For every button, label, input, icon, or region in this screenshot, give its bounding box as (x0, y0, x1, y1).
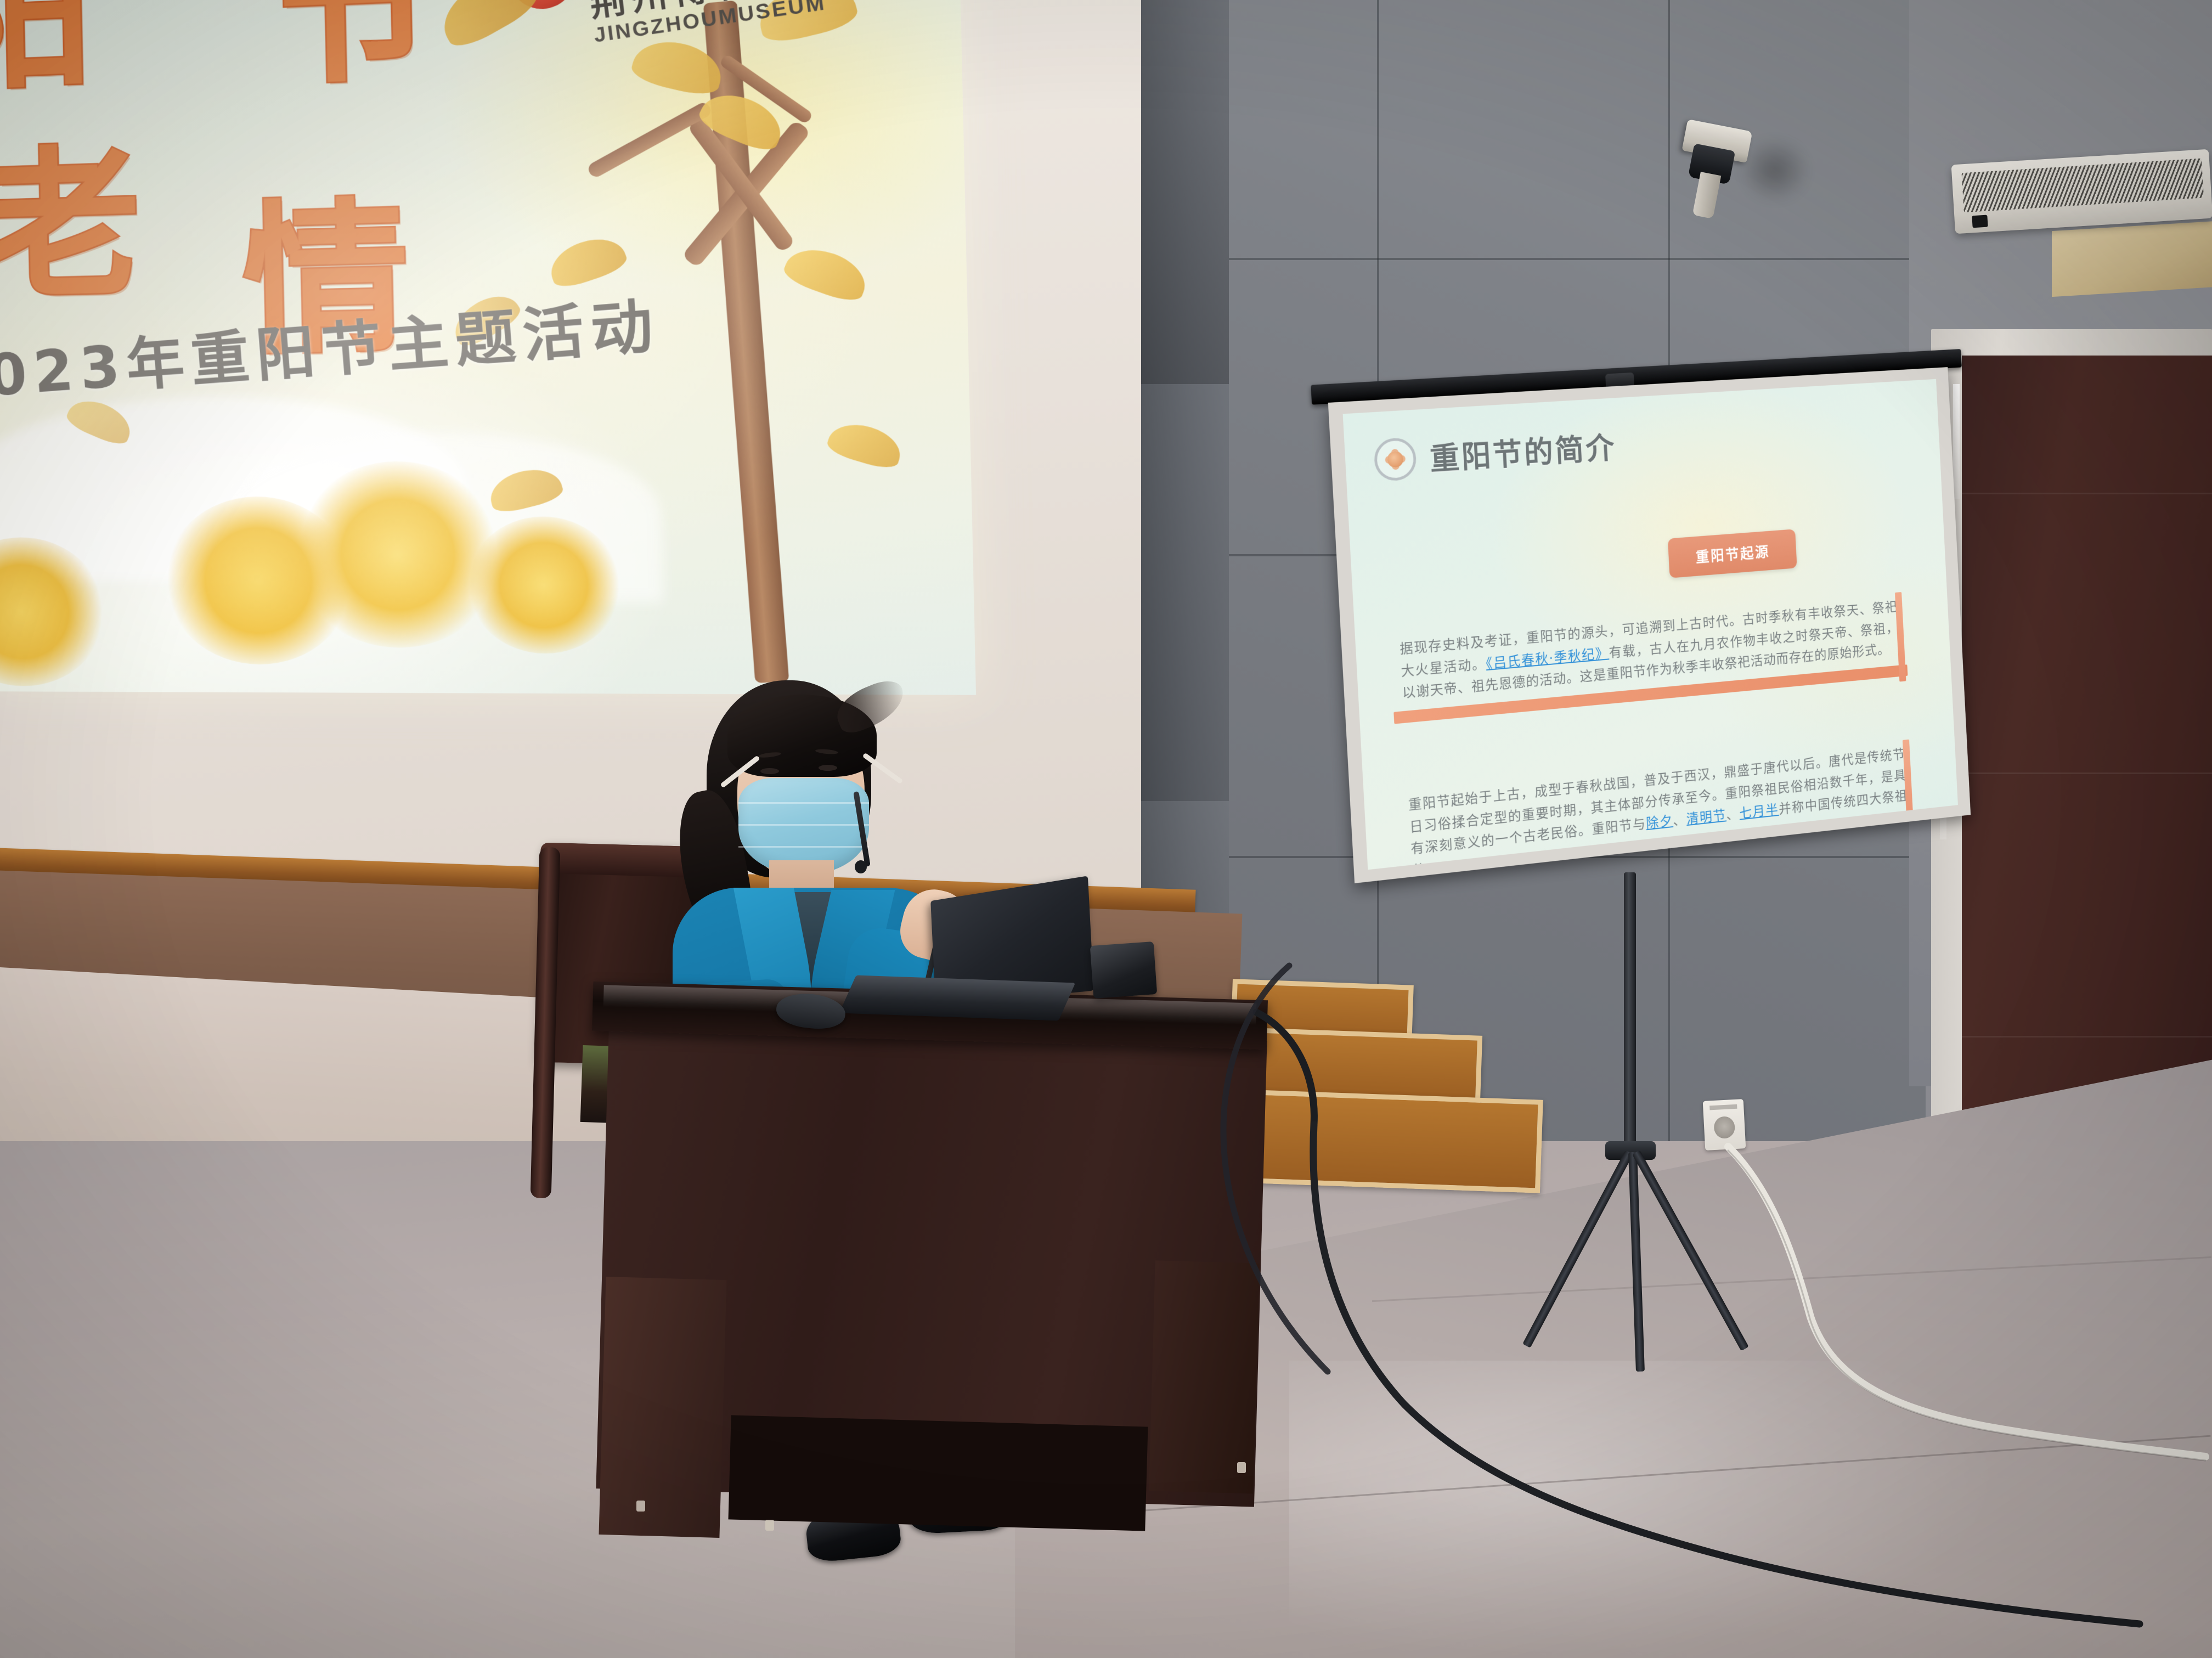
lecture-room-photo: 阳 节 老 情 荆州博物馆 JINGZHOUMUSEUM 2023年重阳节主题活… (0, 0, 2212, 1658)
desk-leg-left (599, 1277, 726, 1538)
screen-surface-border: 重阳节的简介 重阳节起源 据现存史料及考证，重阳节的源头，可追溯到上古时代。古时… (1328, 367, 1971, 883)
desk-kick-panel (728, 1415, 1148, 1531)
wood-ledge (2052, 221, 2212, 297)
slide-title: 重阳节的简介 (1429, 424, 1617, 479)
eye (760, 768, 779, 774)
floor-sheen (1289, 1361, 2002, 1657)
cctv-shadow (1739, 137, 1810, 203)
ac-grille (1962, 159, 2204, 213)
projection-screen-assembly: 重阳节的简介 重阳节起源 据现存史料及考证，重阳节的源头，可追溯到上古时代。古时… (1328, 360, 1971, 887)
outlet-label (1709, 1104, 1737, 1110)
p1-link[interactable]: 《吕氏春秋·季秋纪》 (1486, 645, 1610, 672)
desk-edge-chip (765, 1520, 774, 1531)
p2-link[interactable]: 除夕 (1646, 813, 1673, 831)
left-wall-projection: 阳 节 老 情 荆州博物馆 JINGZHOUMUSEUM 2023年重阳节主题活… (0, 0, 976, 695)
door[interactable] (1962, 356, 2212, 1178)
laptop-keyboard[interactable] (839, 975, 1075, 1021)
tripod-mast (1624, 872, 1636, 1158)
calligraphy-char: 节 (270, 0, 434, 93)
presentation-slide: 重阳节的简介 重阳节起源 据现存史料及考证，重阳节的源头，可追溯到上古时代。古时… (1343, 379, 1958, 870)
desk-edge-chip (1237, 1462, 1246, 1473)
p2-link[interactable]: 清明节 (1686, 808, 1726, 827)
door-edge-highlight (1953, 384, 1960, 499)
ac-sensor-icon (1972, 215, 1988, 228)
slide-paragraph-1: 据现存史料及考证，重阳节的源头，可追溯到上古时代。古时季秋有丰收祭天、祭祀大火星… (1390, 596, 1908, 724)
slide-section-badge: 重阳节起源 (1668, 529, 1797, 578)
power-adapter (1090, 941, 1157, 999)
slide-header: 重阳节的简介 (1373, 424, 1617, 483)
desk-leg-right (1149, 1260, 1260, 1493)
desk-edge-chip (636, 1501, 645, 1512)
calligraphy-char: 老 (0, 143, 143, 307)
eye (819, 765, 837, 771)
calligraphy-char: 阳 (0, 0, 94, 100)
outlet-socket-icon (1713, 1116, 1735, 1139)
stage-step-lower (1233, 1089, 1543, 1193)
chrysanthemum-icon (1373, 437, 1417, 482)
headset-microphone-icon (855, 860, 867, 873)
wall-outlet[interactable] (1703, 1099, 1746, 1151)
p2-link[interactable]: 七月半 (1739, 802, 1779, 821)
